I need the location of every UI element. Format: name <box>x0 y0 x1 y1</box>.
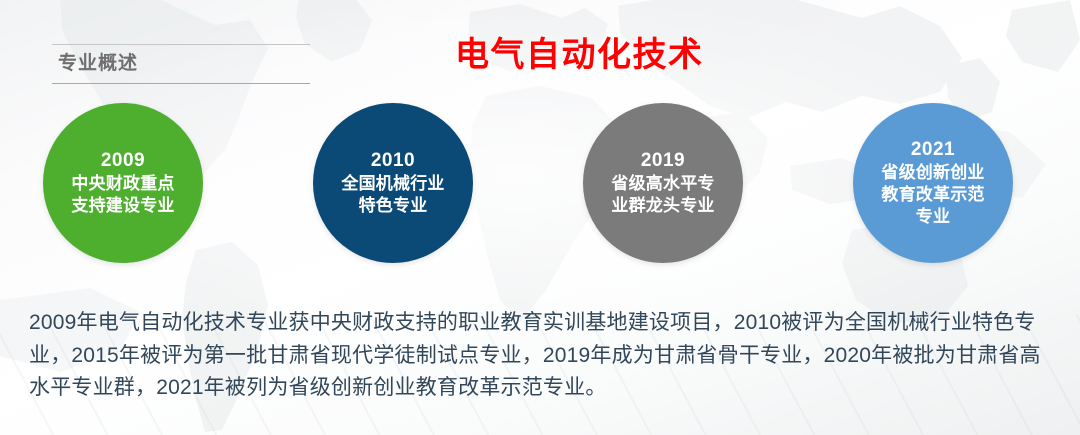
badge-2009: 2009 中央财政重点支持建设专业 <box>43 103 203 263</box>
badge-row: 2009 中央财政重点支持建设专业 2010 全国机械行业特色专业 2019 省… <box>0 103 1080 268</box>
section-rule-bottom <box>52 83 310 84</box>
badge-year: 2019 <box>641 149 685 173</box>
summary-text: 2009年电气自动化技术专业获中央财政支持的职业教育实训基地建设项目，2010被… <box>29 307 1057 405</box>
badge-caption: 中央财政重点支持建设专业 <box>70 173 176 217</box>
badge-caption: 全国机械行业特色专业 <box>340 173 446 217</box>
badge-2010: 2010 全国机械行业特色专业 <box>313 103 473 263</box>
badge-caption: 省级高水平专业群龙头专业 <box>610 173 716 217</box>
summary-paragraph-block: 2009年电气自动化技术专业获中央财政支持的职业教育实训基地建设项目，2010被… <box>29 307 1057 405</box>
badge-year: 2009 <box>101 149 145 173</box>
section-label-text: 专业概述 <box>52 45 310 83</box>
badge-year: 2021 <box>911 138 955 162</box>
page-title: 电气自动化技术 <box>455 36 704 75</box>
badge-2019: 2019 省级高水平专业群龙头专业 <box>583 103 743 263</box>
slide-canvas: 专业概述 电气自动化技术 2009 中央财政重点支持建设专业 2010 全国机械… <box>0 0 1080 435</box>
section-label-group: 专业概述 <box>52 44 310 84</box>
badge-2021: 2021 省级创新创业教育改革示范专业 <box>853 103 1013 263</box>
badge-year: 2010 <box>371 149 415 173</box>
badge-caption: 省级创新创业教育改革示范专业 <box>880 162 986 228</box>
